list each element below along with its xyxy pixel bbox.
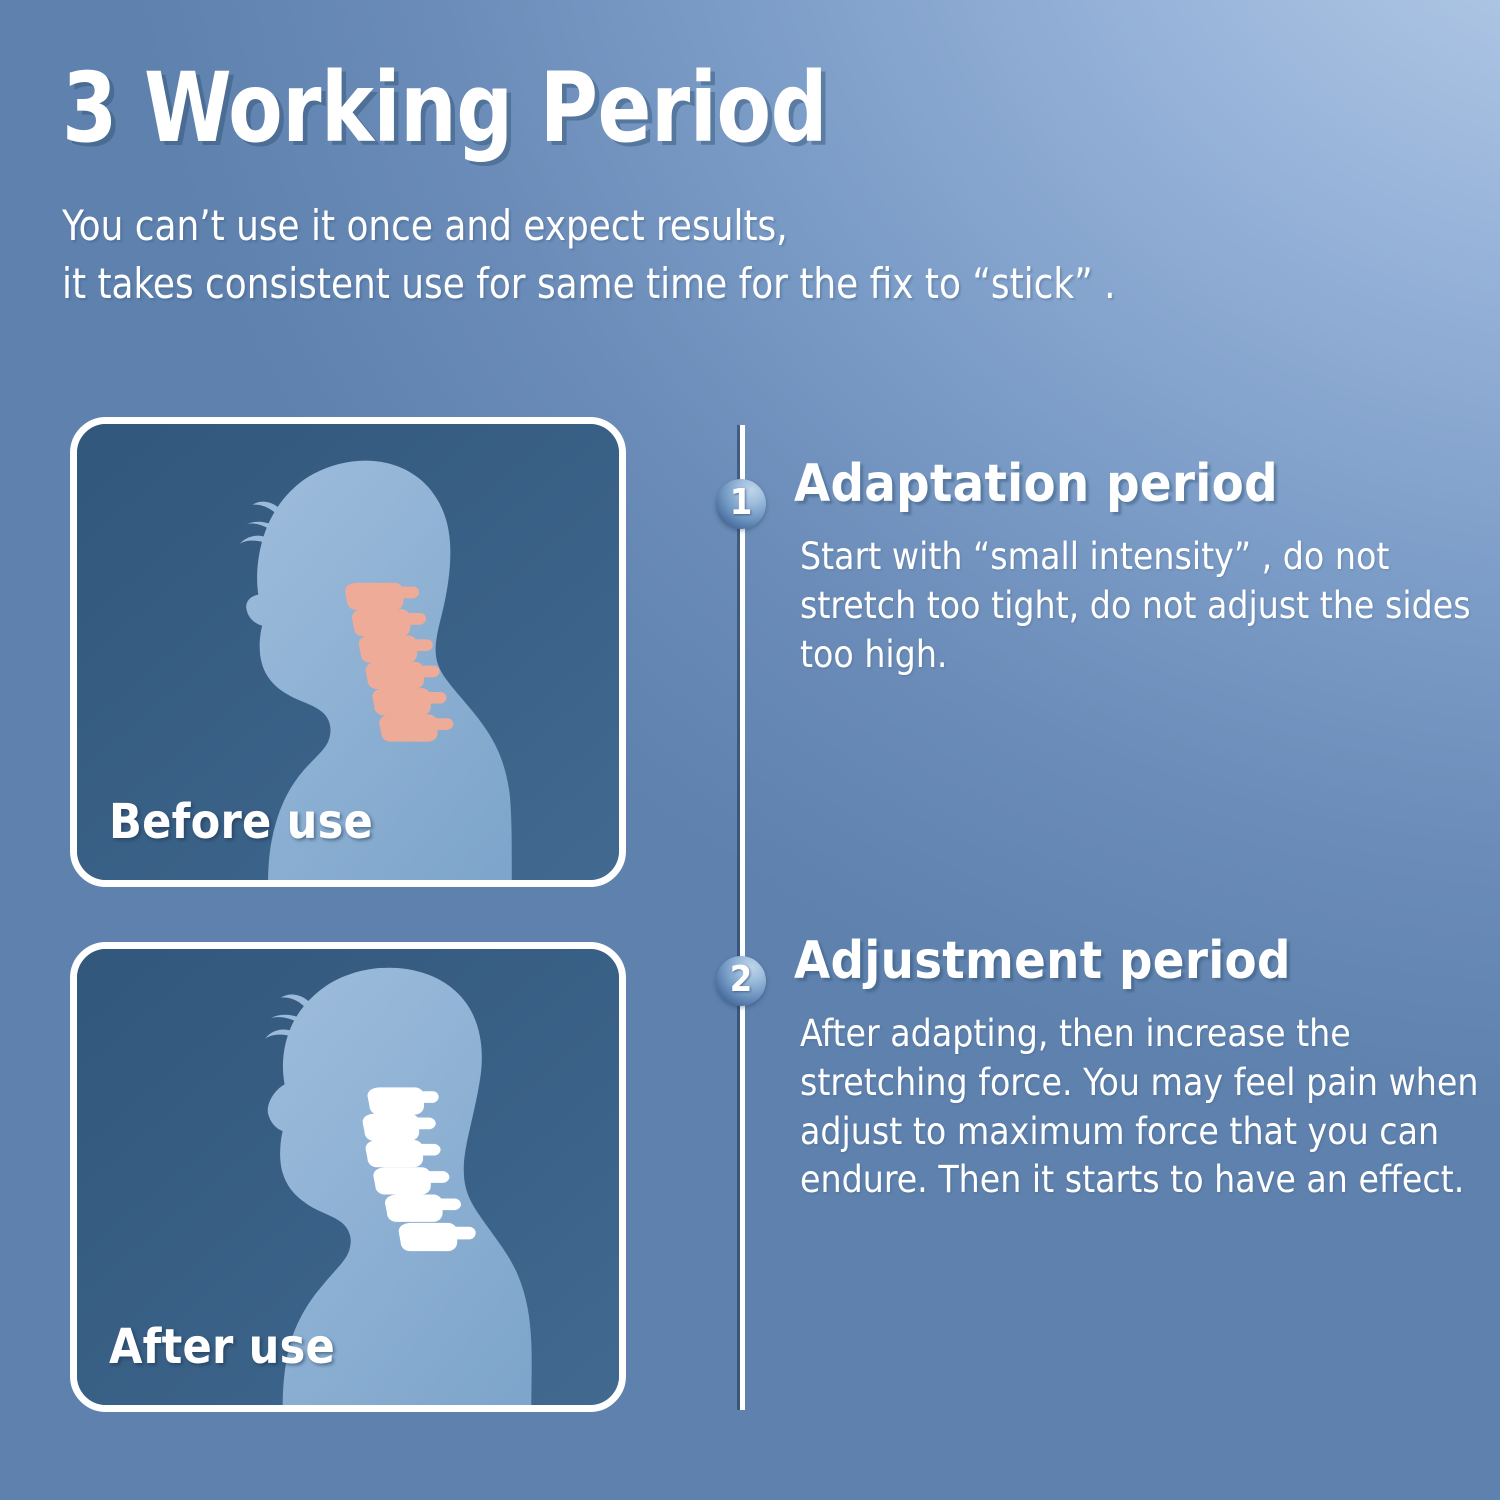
comparison-cards: Before use xyxy=(70,417,640,1412)
subtitle-line-2: it takes consistent use for same time fo… xyxy=(62,255,1383,313)
step-number-1: 1 xyxy=(730,485,753,521)
before-use-card: Before use xyxy=(70,417,626,887)
step-body-1: Adaptation period Start with “small inte… xyxy=(794,455,1500,680)
page-title: 3 Working Period xyxy=(62,58,1341,159)
subtitle: You can’t use it once and expect results… xyxy=(62,197,1383,313)
header: 3 Working Period You can’t use it once a… xyxy=(62,58,1452,313)
step-body-2: Adjustment period After adapting, then i… xyxy=(794,932,1500,1206)
step-item-1: 1 Adaptation period Start with “small in… xyxy=(716,455,1500,680)
step-description-2: After adapting, then increase the stretc… xyxy=(800,1010,1500,1205)
step-description-1: Start with “small intensity” , do not st… xyxy=(800,533,1500,679)
step-number-badge-2: 2 xyxy=(716,956,766,1006)
after-use-card: After use xyxy=(70,942,626,1412)
steps-list: 1 Adaptation period Start with “small in… xyxy=(716,455,1500,1500)
infographic-poster: 3 Working Period You can’t use it once a… xyxy=(0,0,1500,1500)
step-title-1: Adaptation period xyxy=(794,455,1500,513)
step-title-2: Adjustment period xyxy=(794,932,1500,990)
after-use-caption: After use xyxy=(109,1323,335,1371)
step-item-2: 2 Adjustment period After adapting, then… xyxy=(716,932,1500,1206)
step-number-2: 2 xyxy=(730,962,753,998)
step-number-badge-1: 1 xyxy=(716,479,766,529)
before-use-caption: Before use xyxy=(109,798,373,846)
subtitle-line-1: You can’t use it once and expect results… xyxy=(62,197,1383,255)
